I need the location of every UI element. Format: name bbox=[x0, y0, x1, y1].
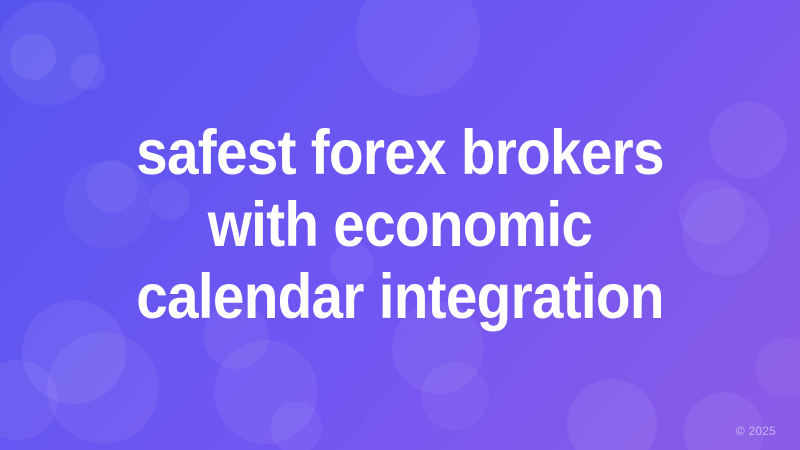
bokeh-circle bbox=[70, 54, 106, 90]
title-line-1: safest forex brokers bbox=[76, 117, 724, 189]
title-card: safest forex brokers with economic calen… bbox=[0, 0, 800, 450]
bokeh-circle bbox=[756, 338, 800, 398]
bokeh-circle bbox=[0, 1, 100, 105]
title-line-3: calendar integration bbox=[76, 261, 724, 333]
title-line-2: with economic bbox=[76, 189, 724, 261]
bokeh-circle bbox=[567, 379, 657, 450]
bokeh-circle bbox=[47, 332, 159, 444]
bokeh-circle bbox=[421, 362, 489, 430]
bokeh-circle bbox=[356, 0, 480, 96]
bokeh-circle bbox=[270, 402, 322, 450]
bokeh-circle bbox=[684, 392, 764, 450]
copyright-notice: © 2025 bbox=[736, 424, 776, 438]
page-title: safest forex brokers with economic calen… bbox=[0, 117, 800, 333]
bokeh-circle bbox=[214, 340, 318, 444]
bokeh-circle bbox=[0, 360, 58, 440]
bokeh-circle bbox=[10, 34, 56, 80]
